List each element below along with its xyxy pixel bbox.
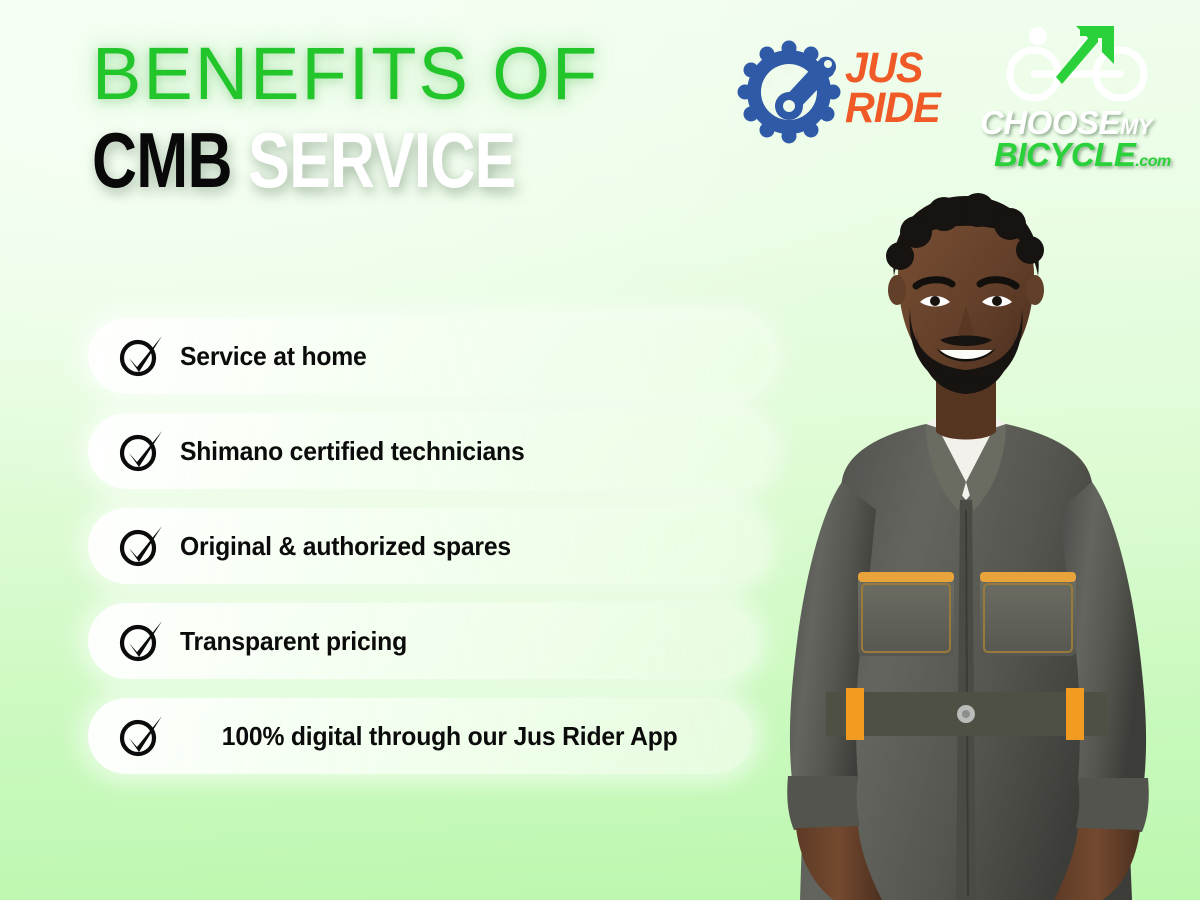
title-line-benefits-of: BENEFITS OF xyxy=(92,38,732,111)
chainring-crank-icon xyxy=(735,38,843,151)
bicycle-wordmark: BICYCLE.com xyxy=(994,136,1171,174)
logo-choose-my-bicycle[interactable]: CHOOSEMY BICYCLE.com xyxy=(980,22,1185,167)
check-circle-icon xyxy=(118,524,164,568)
page-title: BENEFITS OF CMB SERVICE xyxy=(92,38,732,199)
logo-row: JUS RIDE xyxy=(735,22,1185,172)
poster-canvas: BENEFITS OF CMB SERVICE xyxy=(0,0,1200,900)
list-item-label: Shimano certified technicians xyxy=(180,436,525,467)
title-line-cmb-service: CMB SERVICE xyxy=(92,121,604,199)
list-item-label: Transparent pricing xyxy=(180,626,407,657)
jus-ride-line-2: RIDE xyxy=(845,88,940,128)
title-word-cmb: CMB xyxy=(92,116,232,204)
check-circle-icon xyxy=(118,334,164,378)
jus-ride-line-1: JUS xyxy=(845,48,940,88)
list-item-label: Original & authorized spares xyxy=(180,531,511,562)
word-bicycle: BICYCLE xyxy=(994,136,1135,173)
jus-ride-wordmark: JUS RIDE xyxy=(845,48,944,129)
check-circle-icon xyxy=(118,619,164,663)
title-word-service: SERVICE xyxy=(248,116,515,204)
word-dotcom: .com xyxy=(1135,153,1170,170)
bicycle-arrow-icon xyxy=(1002,22,1157,109)
list-item[interactable]: Transparent pricing xyxy=(88,603,756,679)
benefits-list: Service at home Shimano certified techni… xyxy=(88,318,770,793)
list-item[interactable]: 100% digital through our Jus Rider App xyxy=(88,698,752,774)
list-item[interactable]: Original & authorized spares xyxy=(88,508,764,584)
check-circle-icon xyxy=(118,714,164,758)
technician-photo xyxy=(730,180,1200,900)
logo-jus-ride[interactable]: JUS RIDE xyxy=(735,36,940,154)
list-item[interactable]: Shimano certified technicians xyxy=(88,413,770,489)
list-item-label: 100% digital through our Jus Rider App xyxy=(180,721,678,752)
list-item[interactable]: Service at home xyxy=(88,318,770,394)
check-circle-icon xyxy=(118,429,164,473)
list-item-label: Service at home xyxy=(180,341,367,372)
